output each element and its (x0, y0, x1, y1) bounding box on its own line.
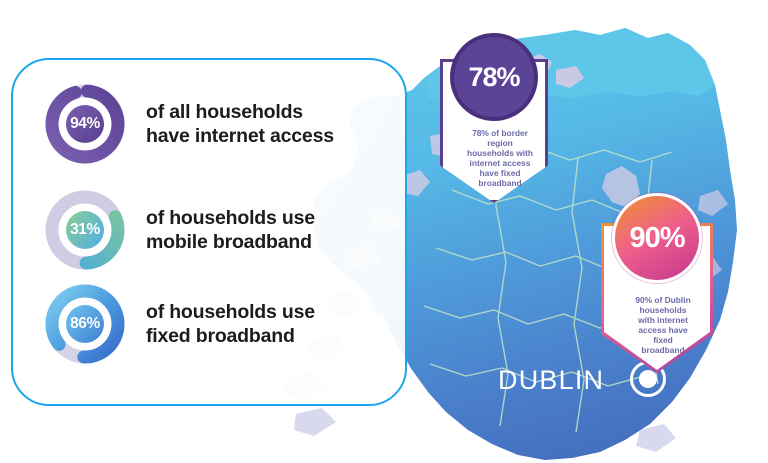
pin-text-dublin: 90% of Dublin households with internet a… (601, 296, 725, 355)
stat-description: of households use fixed broadband (146, 300, 315, 348)
stats-card: 94% of all households have internet acce… (11, 58, 407, 406)
donut-chart-94: 94% (43, 82, 127, 166)
city-label-dublin: DUBLIN (498, 365, 604, 396)
donut-percent-label: 86% (43, 282, 127, 366)
stat-line-1: of households use (146, 300, 315, 324)
pin-badge-78: 78% (450, 33, 538, 121)
pin-badge-90: 90% (612, 193, 702, 283)
stat-description: of households use mobile broadband (146, 206, 315, 254)
stat-description: of all households have internet access (146, 100, 334, 148)
stat-line-2: fixed broadband (146, 324, 315, 348)
donut-chart-86: 86% (43, 282, 127, 366)
stat-row: 31% of households use mobile broadband (43, 188, 315, 272)
stat-line-2: mobile broadband (146, 230, 315, 254)
stat-line-1: of households use (146, 206, 315, 230)
pin-percent-label: 78% (468, 62, 519, 93)
donut-percent-label: 31% (43, 188, 127, 272)
stat-row: 86% of households use fixed broadband (43, 282, 315, 366)
stat-line-2: have internet access (146, 124, 334, 148)
pin-line: broadband (607, 346, 719, 356)
pin-percent-label: 90% (629, 222, 684, 255)
stat-row: 94% of all households have internet acce… (43, 82, 334, 166)
pin-line: broadband (446, 179, 554, 189)
infographic-root: 94% of all households have internet acce… (0, 0, 768, 463)
stat-line-1: of all households (146, 100, 334, 124)
pin-text-border-region: 78% of border region households with int… (440, 129, 560, 188)
donut-chart-31: 31% (43, 188, 127, 272)
donut-percent-label: 94% (43, 82, 127, 166)
